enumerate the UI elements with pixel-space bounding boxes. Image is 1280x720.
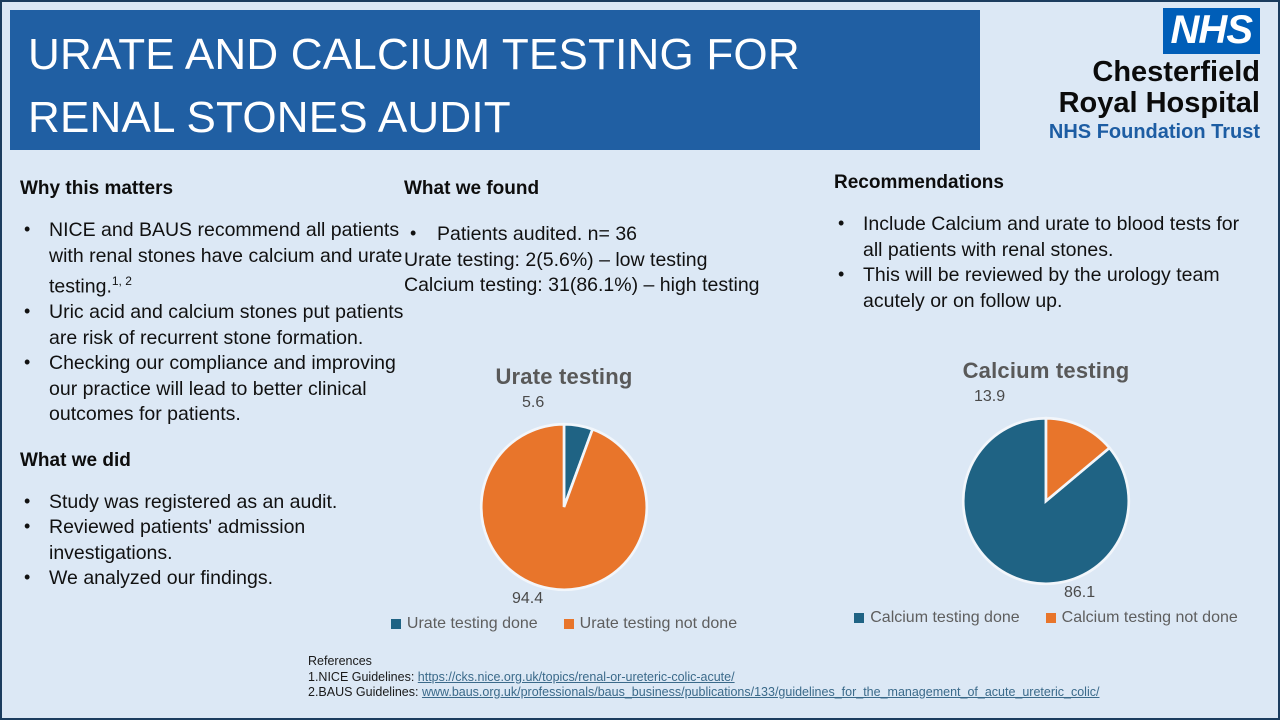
recommendations-list: Include Calcium and urate to blood tests… <box>834 212 1254 314</box>
pie-svg-calcium <box>957 412 1135 590</box>
legend-calcium: Calcium testing done Calcium testing not… <box>876 609 1216 627</box>
reference-link-baus[interactable]: www.baus.org.uk/professionals/baus_busin… <box>422 685 1100 699</box>
pie-graphic-calcium <box>957 412 1135 595</box>
section-heading-what-we-did: What we did <box>20 450 412 472</box>
title-bar: URATE AND CALCIUM TESTING FOR RENAL STON… <box>10 10 980 150</box>
list-item: Reviewed patients' admission investigati… <box>20 515 412 566</box>
legend-swatch-icon <box>854 613 864 623</box>
list-item: Study was registered as an audit. <box>20 490 412 516</box>
pie-data-label-not-done: 13.9 <box>974 388 1005 406</box>
list-item: Checking our compliance and improving ou… <box>20 351 412 428</box>
bullet-text: NICE and BAUS recommend all patients wit… <box>49 219 402 298</box>
list-item: We analyzed our findings. <box>20 566 412 592</box>
reference-superscript: 1, 2 <box>112 274 132 288</box>
finding-urate-testing: Urate testing: 2(5.6%) – low testing <box>404 248 824 274</box>
chart-title-urate: Urate testing <box>394 364 734 390</box>
list-item: Patients audited. n= 36 <box>404 222 824 248</box>
legend-item-calcium-not-done[interactable]: Calcium testing not done <box>1046 609 1238 627</box>
references-heading: References <box>308 654 1099 670</box>
pie-area-calcium: 86.1 13.9 <box>876 388 1216 603</box>
column-left: Why this matters NICE and BAUS recommend… <box>20 178 412 592</box>
legend-label: Calcium testing not done <box>1062 609 1238 627</box>
legend-item-urate-not-done[interactable]: Urate testing not done <box>564 615 737 633</box>
legend-urate: Urate testing done Urate testing not don… <box>394 615 734 633</box>
chart-calcium-testing: Calcium testing 86.1 13.9 Calcium testin… <box>876 358 1216 627</box>
section-heading-why-this-matters: Why this matters <box>20 178 412 200</box>
trust-name: Chesterfield Royal Hospital <box>1005 57 1260 119</box>
chart-urate-testing: Urate testing 5.6 94.4 Urate testing don… <box>394 364 734 633</box>
legend-label: Calcium testing done <box>870 609 1019 627</box>
legend-label: Urate testing done <box>407 615 538 633</box>
nhs-trust-logo: NHS Chesterfield Royal Hospital NHS Foun… <box>1005 8 1260 143</box>
trust-subtitle: NHS Foundation Trust <box>1005 121 1260 143</box>
slide: URATE AND CALCIUM TESTING FOR RENAL STON… <box>0 0 1280 720</box>
finding-calcium-testing: Calcium testing: 31(86.1%) – high testin… <box>404 273 824 299</box>
list-item: Include Calcium and urate to blood tests… <box>834 212 1254 263</box>
reference-prefix: 1.NICE Guidelines: <box>308 670 418 684</box>
pie-data-label-done: 5.6 <box>522 394 544 412</box>
legend-swatch-icon <box>391 619 401 629</box>
legend-item-urate-done[interactable]: Urate testing done <box>391 615 538 633</box>
why-this-matters-list: NICE and BAUS recommend all patients wit… <box>20 218 412 428</box>
references: References 1.NICE Guidelines: https://ck… <box>308 654 1099 701</box>
list-item: Uric acid and calcium stones put patient… <box>20 300 412 351</box>
legend-swatch-icon <box>1046 613 1056 623</box>
column-middle: What we found Patients audited. n= 36 Ur… <box>404 178 824 299</box>
legend-swatch-icon <box>564 619 574 629</box>
reference-link-nice[interactable]: https://cks.nice.org.uk/topics/renal-or-… <box>418 670 735 684</box>
legend-label: Urate testing not done <box>580 615 737 633</box>
what-we-did-list: Study was registered as an audit. Review… <box>20 490 412 592</box>
nhs-logo-badge: NHS <box>1163 8 1260 54</box>
column-right: Recommendations Include Calcium and urat… <box>834 172 1254 314</box>
reference-item-1: 1.NICE Guidelines: https://cks.nice.org.… <box>308 670 1099 686</box>
legend-item-calcium-done[interactable]: Calcium testing done <box>854 609 1019 627</box>
page-title: URATE AND CALCIUM TESTING FOR RENAL STON… <box>28 24 962 150</box>
pie-graphic-urate <box>475 418 653 601</box>
chart-title-calcium: Calcium testing <box>876 358 1216 384</box>
pie-svg-urate <box>475 418 653 596</box>
what-we-found-list: Patients audited. n= 36 <box>404 222 824 248</box>
section-heading-what-we-found: What we found <box>404 178 824 200</box>
list-item: NICE and BAUS recommend all patients wit… <box>20 218 412 300</box>
reference-prefix: 2.BAUS Guidelines: <box>308 685 422 699</box>
reference-item-2: 2.BAUS Guidelines: www.baus.org.uk/profe… <box>308 685 1099 701</box>
pie-area-urate: 5.6 94.4 <box>394 394 734 609</box>
spacer <box>20 428 412 450</box>
list-item: This will be reviewed by the urology tea… <box>834 263 1254 314</box>
section-heading-recommendations: Recommendations <box>834 172 1254 194</box>
